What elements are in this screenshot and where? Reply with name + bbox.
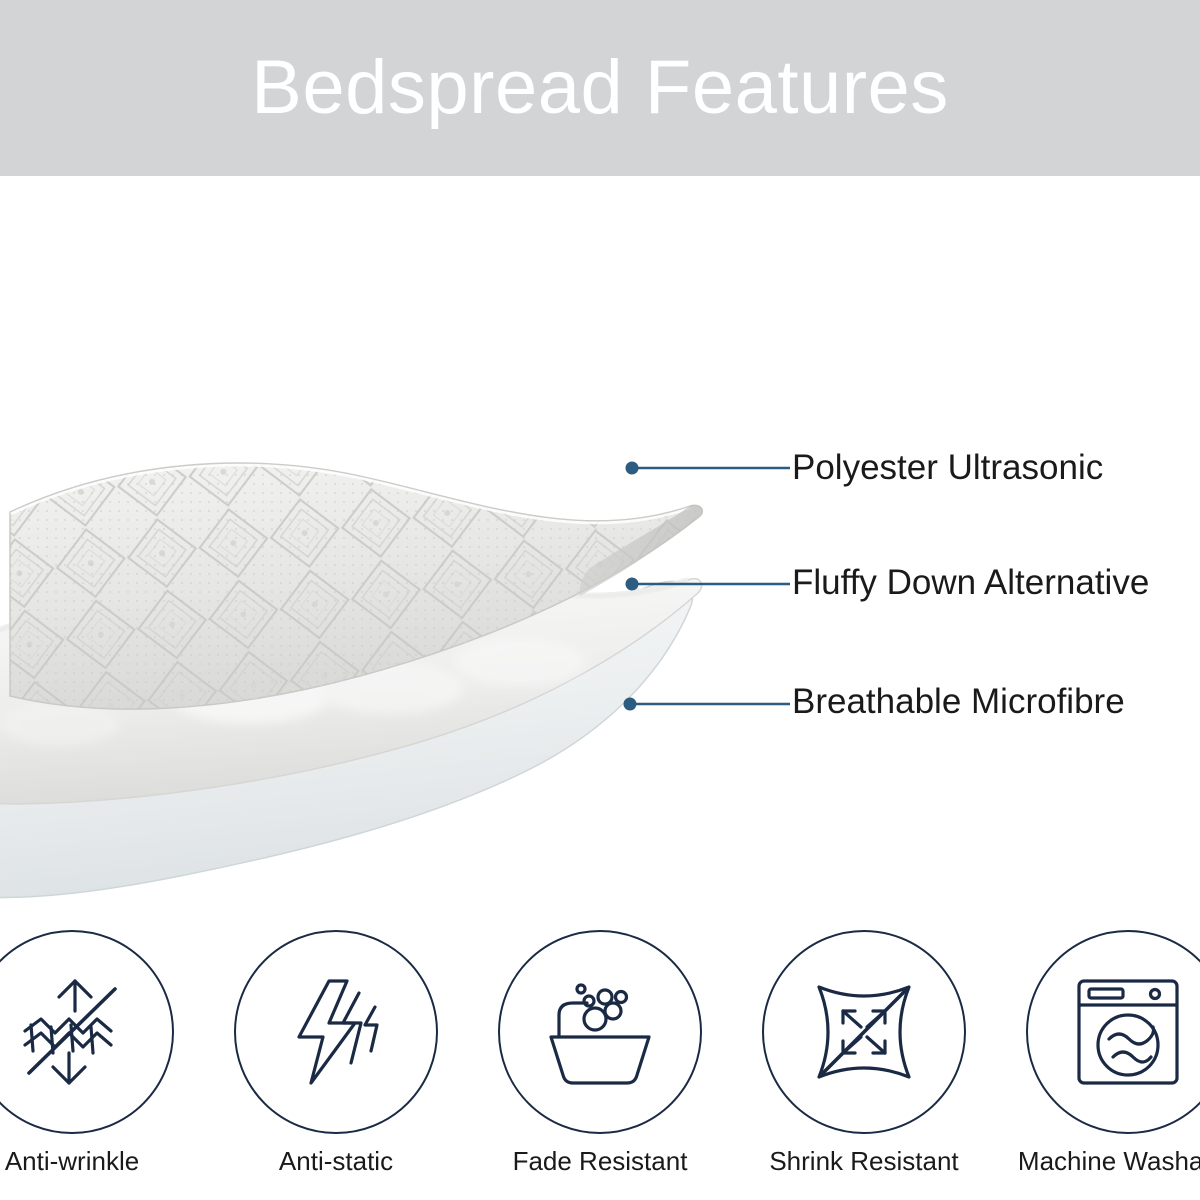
feature-label-anti-wrinkle: Anti-wrinkle xyxy=(5,1148,139,1174)
feature-circle-anti-wrinkle xyxy=(0,930,174,1134)
callout-label-fluffy-down-alternative: Fluffy Down Alternative xyxy=(792,565,1149,600)
callout-label-breathable-microfibre: Breathable Microfibre xyxy=(792,684,1125,719)
feature-item-machine-washable: Machine Washable xyxy=(1008,930,1200,1174)
feature-circle-shrink-resistant xyxy=(762,930,966,1134)
feature-icons-row: Anti-wrinkle Anti-static xyxy=(0,930,1200,1200)
feature-item-fade-resistant: Fade Resistant xyxy=(480,930,720,1174)
fabric-layers-illustration xyxy=(0,176,1200,916)
feature-circle-anti-static xyxy=(234,930,438,1134)
anti-wrinkle-icon xyxy=(7,967,137,1097)
fade-resistant-icon xyxy=(535,967,665,1097)
anti-static-icon xyxy=(271,967,401,1097)
feature-item-anti-static: Anti-static xyxy=(216,930,456,1174)
feature-label-fade-resistant: Fade Resistant xyxy=(513,1148,688,1174)
feature-label-shrink-resistant: Shrink Resistant xyxy=(769,1148,958,1174)
shrink-resistant-icon xyxy=(799,967,929,1097)
machine-washable-icon xyxy=(1063,967,1193,1097)
feature-label-machine-washable: Machine Washable xyxy=(1018,1148,1200,1174)
layer-diagram: Polyester Ultrasonic Fluffy Down Alterna… xyxy=(0,176,1200,916)
feature-label-anti-static: Anti-static xyxy=(279,1148,393,1174)
page-title: Bedspread Features xyxy=(251,50,949,126)
feature-circle-machine-washable xyxy=(1026,930,1200,1134)
feature-circle-fade-resistant xyxy=(498,930,702,1134)
feature-item-anti-wrinkle: Anti-wrinkle xyxy=(0,930,192,1174)
callout-label-polyester-ultrasonic: Polyester Ultrasonic xyxy=(792,450,1103,485)
header-banner: Bedspread Features xyxy=(0,0,1200,176)
feature-item-shrink-resistant: Shrink Resistant xyxy=(744,930,984,1174)
